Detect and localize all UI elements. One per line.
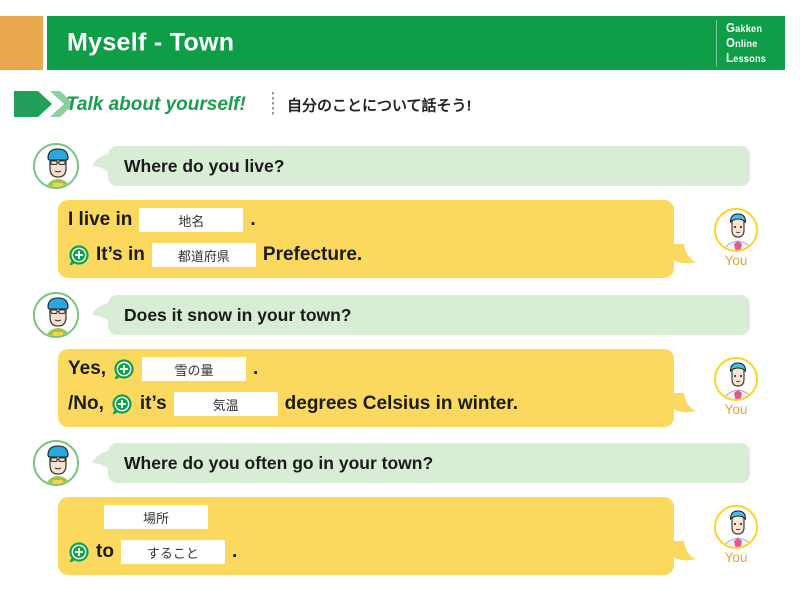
header-green-bar: Myself - Town Gakken Online Lessons [47,16,785,70]
answer-line: /No, it’s気温degrees Celsius in winter. [68,392,525,416]
question-text: Where do you often go in your town? [124,453,433,474]
you-avatar-group: You [708,505,764,565]
answer-box-tail [670,244,696,270]
you-label: You [708,402,764,417]
fill-in-blank[interactable]: すること [121,540,225,564]
answer-line: toすること. [68,540,244,564]
fill-in-blank[interactable]: 場所 [104,505,208,529]
question-bubble: Where do you live? [108,146,750,186]
answer-box: 場所 toすること. [58,497,674,575]
question-bubble: Where do you often go in your town? [108,443,750,483]
you-label: You [708,550,764,565]
teacher-avatar [33,143,79,189]
teacher-avatar [33,292,79,338]
answer-box: I live in地名. It’s in都道府県Prefecture. [58,200,674,278]
plus-circle-icon[interactable] [68,541,90,563]
answer-text: it’s [140,393,167,415]
answer-line: It’s in都道府県Prefecture. [68,243,369,267]
answer-text: Yes, [68,358,106,380]
subheading-japanese: 自分のことについて話そう! [287,95,472,116]
plus-circle-icon[interactable] [113,358,135,380]
answer-text: to [96,541,114,563]
section-subheading: Talk about yourself! 自分のことについて話そう! [0,88,800,122]
fill-in-blank[interactable]: 地名 [139,208,243,232]
answer-text: degrees Celsius in winter. [285,393,518,415]
page-title: Myself - Town [67,29,234,58]
answer-text: . [253,358,258,380]
question-text: Does it snow in your town? [124,305,352,326]
fill-in-blank[interactable]: 都道府県 [152,243,256,267]
answer-text: It’s in [96,244,145,266]
answer-text: I live in [68,209,132,231]
you-avatar-group: You [708,208,764,268]
answer-line: 場所 [104,505,215,529]
plus-circle-icon[interactable] [68,244,90,266]
gakken-online-lessons-logo: Gakken Online Lessons [716,20,772,66]
answer-box-tail [670,541,696,567]
answer-text: . [250,209,255,231]
question-bubble: Does it snow in your town? [108,295,750,335]
answer-box: Yes, 雪の量./No, it’s気温degrees Celsius in w… [58,349,674,427]
you-avatar [714,208,758,252]
logo-line-1: Gakken [726,20,766,35]
header-accent-block [0,16,43,70]
answer-text: Prefecture. [263,244,362,266]
slide-root: Myself - Town Gakken Online Lessons Talk… [0,0,800,600]
logo-line-3: Lessons [726,51,766,66]
question-text: Where do you live? [124,156,284,177]
you-avatar-group: You [708,357,764,417]
subheading-english: Talk about yourself! [66,94,246,116]
answer-text: /No, [68,393,104,415]
page-header: Myself - Town Gakken Online Lessons [0,16,800,70]
teacher-avatar [33,440,79,486]
you-avatar [714,357,758,401]
logo-line-2: Online [726,35,766,50]
answer-box-tail [670,393,696,419]
you-label: You [708,253,764,268]
answer-text: . [232,541,237,563]
fill-in-blank[interactable]: 気温 [174,392,278,416]
dotted-divider [272,92,274,116]
you-avatar [714,505,758,549]
answer-line: Yes, 雪の量. [68,357,265,381]
answer-line: I live in地名. [68,208,263,232]
plus-circle-icon[interactable] [111,393,133,415]
fill-in-blank[interactable]: 雪の量 [142,357,246,381]
